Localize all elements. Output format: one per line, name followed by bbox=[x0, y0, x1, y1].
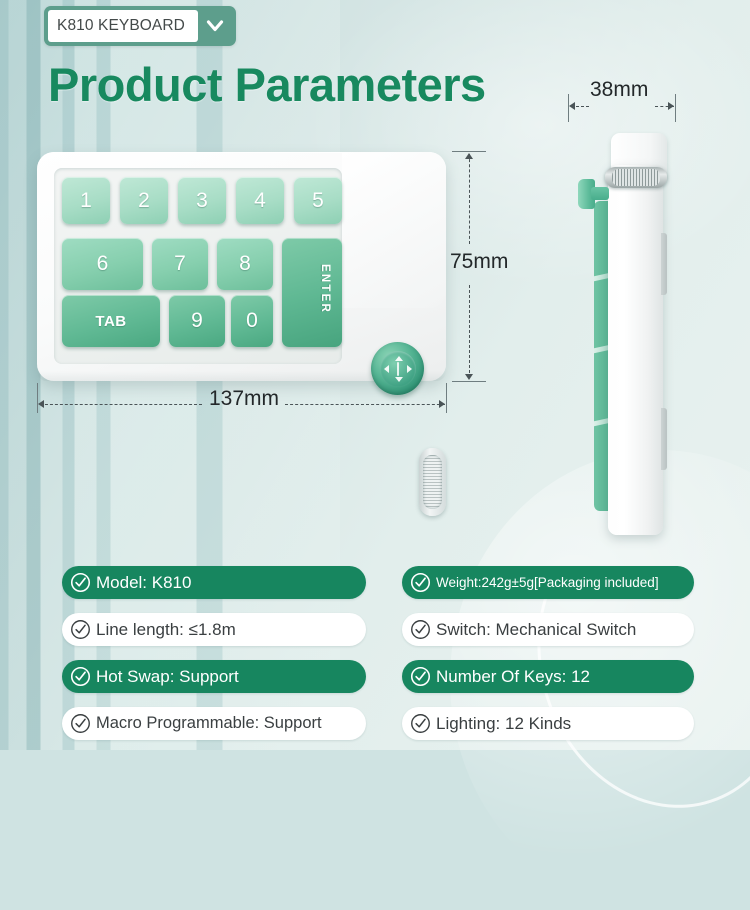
dim-width-line-left bbox=[40, 404, 202, 405]
keycap-label: 5 bbox=[312, 189, 324, 213]
dim-width-arrow-right bbox=[439, 400, 445, 408]
chevron-down-icon[interactable] bbox=[198, 10, 232, 42]
dpad-stem bbox=[397, 362, 399, 376]
dim-depth-arrow-left bbox=[569, 102, 575, 110]
dpad-arrow-down-icon bbox=[395, 377, 403, 382]
keycap-5[interactable]: 5 bbox=[294, 177, 342, 224]
spec-item-model[interactable]: Model: K810 bbox=[62, 566, 366, 599]
keycap-tab[interactable]: TAB bbox=[62, 295, 160, 347]
check-circle-icon bbox=[70, 713, 91, 734]
spec-item-text: Hot Swap: Support bbox=[96, 667, 239, 687]
page-title: Product Parameters bbox=[48, 57, 486, 112]
keycap-label: 3 bbox=[196, 189, 208, 213]
check-circle-icon bbox=[410, 619, 431, 640]
keycap-label: 4 bbox=[254, 189, 266, 213]
dpad-arrow-up-icon bbox=[395, 356, 403, 361]
keycap-0[interactable]: 0 bbox=[231, 295, 273, 347]
check-circle-icon bbox=[410, 713, 431, 734]
keycap-label: 0 bbox=[246, 309, 258, 333]
keycap-1[interactable]: 1 bbox=[62, 177, 110, 224]
spec-item-number-of-keys[interactable]: Number Of Keys: 12 bbox=[402, 660, 694, 693]
spec-item-hot-swap[interactable]: Hot Swap: Support bbox=[62, 660, 366, 693]
keycap-label: 2 bbox=[138, 189, 150, 213]
keycap-label: TAB bbox=[95, 313, 126, 330]
spec-item-weight[interactable]: Weight:242g±5g[Packaging included] bbox=[402, 566, 694, 599]
dim-height-line-top bbox=[469, 154, 470, 244]
keycap-3[interactable]: 3 bbox=[178, 177, 226, 224]
side-view-chassis bbox=[608, 165, 663, 535]
spec-item-text: Switch: Mechanical Switch bbox=[436, 620, 636, 640]
side-view-wheel-knurl bbox=[612, 169, 660, 186]
dimension-width-label: 137mm bbox=[209, 387, 279, 411]
spec-list: Model: K810 Line length: ≤1.8m Hot Swap:… bbox=[0, 562, 750, 752]
keyboard-right-shelf bbox=[342, 152, 446, 308]
keycap-4[interactable]: 4 bbox=[236, 177, 284, 224]
check-circle-icon bbox=[70, 572, 91, 593]
dpad-inner bbox=[380, 351, 416, 387]
keycap-label: ENTER bbox=[319, 264, 331, 314]
keycap-label: 8 bbox=[239, 252, 251, 276]
spec-item-text: Model: K810 bbox=[96, 573, 191, 593]
keycap-7[interactable]: 7 bbox=[152, 238, 208, 290]
dim-height-line-bottom bbox=[469, 285, 470, 378]
check-circle-icon bbox=[410, 666, 431, 687]
dpad-arrow-right-icon bbox=[407, 365, 412, 373]
dpad-icon[interactable] bbox=[371, 342, 424, 395]
keycap-9[interactable]: 9 bbox=[169, 295, 225, 347]
spec-item-text: Weight:242g±5g[Packaging included] bbox=[436, 575, 659, 590]
check-circle-icon bbox=[410, 572, 431, 593]
side-view-button-upper bbox=[661, 233, 667, 295]
dim-height-arrow-bottom bbox=[465, 374, 473, 380]
dim-height-arrow-top bbox=[465, 153, 473, 159]
keycap-label: 6 bbox=[97, 252, 109, 276]
keycap-label: 9 bbox=[191, 309, 203, 333]
spec-item-text: Macro Programmable: Support bbox=[96, 714, 322, 733]
dim-width-arrow-left bbox=[38, 400, 44, 408]
check-circle-icon bbox=[70, 666, 91, 687]
check-circle-icon bbox=[70, 619, 91, 640]
product-selector-value: K810 KEYBOARD bbox=[48, 10, 198, 42]
keycap-label: 7 bbox=[174, 252, 186, 276]
dimension-height-label: 75mm bbox=[450, 250, 508, 274]
dim-width-tick-right bbox=[446, 383, 447, 413]
side-view-button-lower bbox=[661, 408, 667, 470]
product-selector-dropdown[interactable]: K810 KEYBOARD bbox=[44, 6, 236, 46]
spec-item-lighting[interactable]: Lighting: 12 Kinds bbox=[402, 707, 694, 740]
dimension-depth-label: 38mm bbox=[590, 78, 648, 102]
spec-item-switch[interactable]: Switch: Mechanical Switch bbox=[402, 613, 694, 646]
spec-item-text: Lighting: 12 Kinds bbox=[436, 714, 571, 734]
dim-width-tick-left bbox=[37, 383, 38, 413]
dim-height-tick-bottom bbox=[452, 381, 486, 382]
keycap-6[interactable]: 6 bbox=[62, 238, 143, 290]
spec-item-line-length[interactable]: Line length: ≤1.8m bbox=[62, 613, 366, 646]
dim-depth-arrow-right bbox=[668, 102, 674, 110]
keycap-2[interactable]: 2 bbox=[120, 177, 168, 224]
spec-item-text: Line length: ≤1.8m bbox=[96, 620, 236, 640]
dim-width-line-right bbox=[285, 404, 445, 405]
spec-item-macro-programmable[interactable]: Macro Programmable: Support bbox=[62, 707, 366, 740]
keycap-enter[interactable]: ENTER bbox=[282, 238, 342, 347]
dim-height-tick-top bbox=[452, 151, 486, 152]
dim-depth-tick-right bbox=[675, 94, 676, 122]
keyboard-side-view bbox=[578, 133, 688, 538]
spec-item-text: Number Of Keys: 12 bbox=[436, 667, 590, 687]
scroll-wheel-icon[interactable] bbox=[419, 448, 446, 516]
scroll-wheel-knurl bbox=[423, 455, 442, 509]
side-view-knob-stem bbox=[591, 187, 609, 200]
keycap-8[interactable]: 8 bbox=[217, 238, 273, 290]
side-view-scroll-wheel bbox=[605, 167, 667, 188]
keycap-label: 1 bbox=[80, 189, 92, 213]
dpad-arrow-left-icon bbox=[384, 365, 389, 373]
keyboard-top-view: 1 2 3 4 5 6 7 8 TAB 9 0 ENTER bbox=[37, 152, 446, 381]
